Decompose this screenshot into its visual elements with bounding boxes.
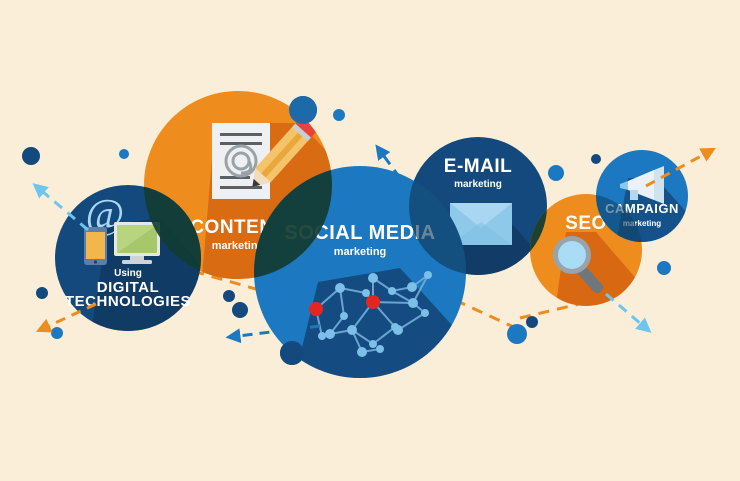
bubble-digital-kicker: Using <box>114 268 142 279</box>
infographic-svg: CONTENT marketing E-MAIL marketing <box>0 0 740 481</box>
dot <box>591 154 601 164</box>
dot <box>232 302 248 318</box>
network-hub-node <box>309 302 323 316</box>
bubble-email-title: E-MAIL <box>444 156 512 177</box>
dot <box>507 324 527 344</box>
dot <box>119 149 129 159</box>
dot <box>289 96 317 124</box>
dot <box>51 327 63 339</box>
dot <box>280 341 304 365</box>
network-hub-node <box>366 295 380 309</box>
bubble-digital-title-line2: TECHNOLOGIES <box>65 293 191 310</box>
bubble-social-subtitle: marketing <box>334 246 387 258</box>
dot <box>526 316 538 328</box>
dot <box>22 147 40 165</box>
dot <box>36 287 48 299</box>
dot <box>657 261 671 275</box>
dot <box>548 165 564 181</box>
bubble-email-subtitle: marketing <box>454 179 502 190</box>
dot <box>333 109 345 121</box>
infographic-canvas: CONTENT marketing E-MAIL marketing <box>0 0 740 481</box>
dot <box>223 290 235 302</box>
bubble-seo-title: SEO <box>565 213 607 234</box>
